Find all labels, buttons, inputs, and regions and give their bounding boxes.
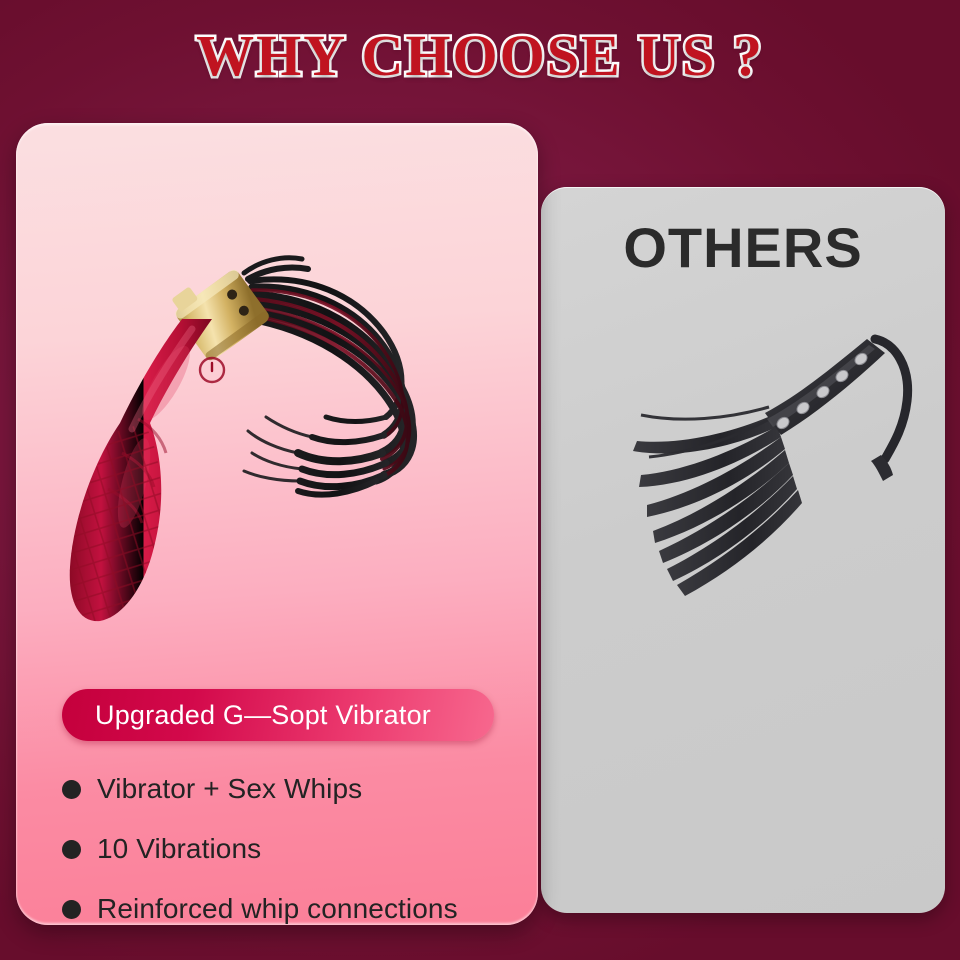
others-product-image [541,187,945,913]
product-badge-label: Upgraded G—Sopt Vibrator [62,700,431,731]
page-title: WHY CHOOSE US ? [0,22,960,89]
ours-bullet-list: Vibrator + Sex Whips 10 Vibrations Reinf… [62,759,532,925]
list-item-label: 10 Vibrations [97,833,261,865]
ours-card: Upgraded G—Sopt Vibrator Vibrator + Sex … [16,123,538,925]
list-item: 10 Vibrations [62,819,532,879]
others-card: OTHERS [541,187,945,913]
comparison-poster: WHY CHOOSE US ? OTHERS [0,0,960,960]
product-badge: Upgraded G—Sopt Vibrator [62,689,494,741]
bullet-dot-icon [62,780,81,799]
list-item-label: Reinforced whip connections [97,893,458,925]
list-item-label: Vibrator + Sex Whips [97,773,362,805]
bullet-dot-icon [62,900,81,919]
bullet-dot-icon [62,840,81,859]
list-item: Vibrator + Sex Whips [62,759,532,819]
list-item: Reinforced whip connections [62,879,532,925]
